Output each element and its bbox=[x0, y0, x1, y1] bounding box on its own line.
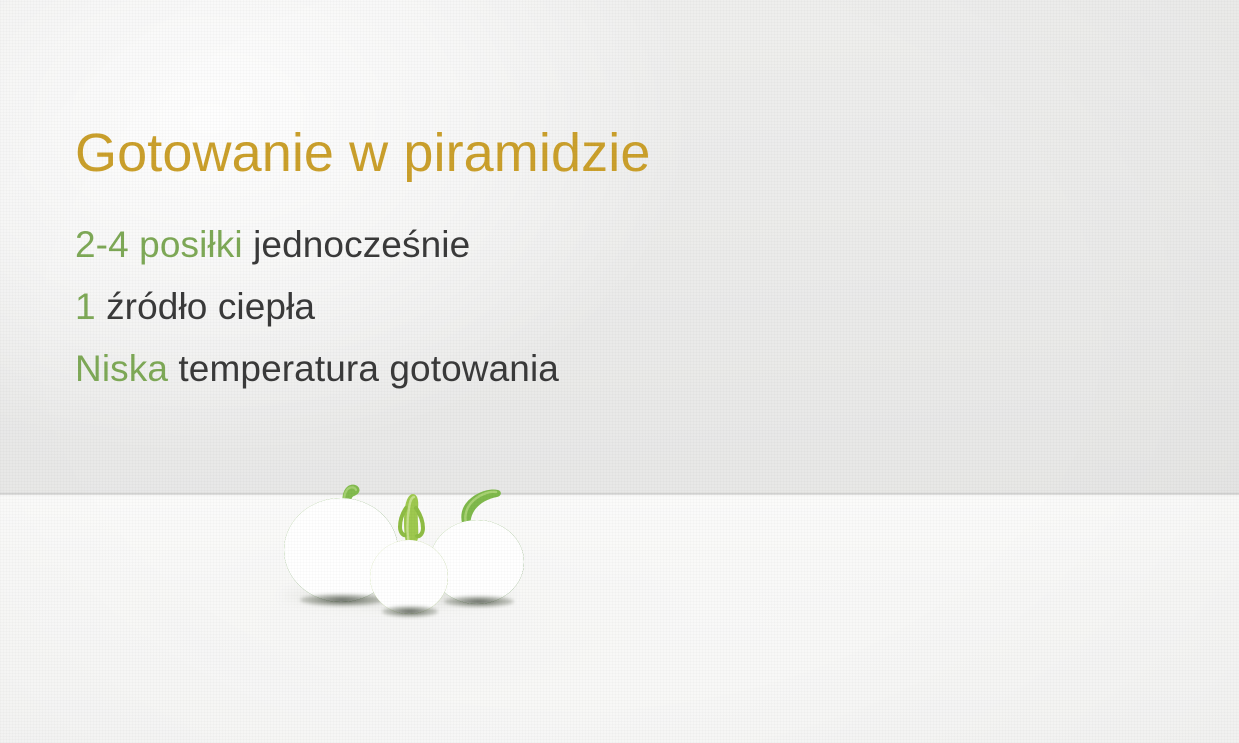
round-zucchini-photo bbox=[276, 462, 526, 627]
text-block: Gotowanie w piramidzie 2-4 posiłki jedno… bbox=[75, 118, 895, 400]
slide-canvas: Gotowanie w piramidzie 2-4 posiłki jedno… bbox=[0, 0, 1239, 743]
bullet-rest-text: jednocześnie bbox=[243, 224, 471, 265]
list-item: 1 źródło ciepła bbox=[75, 276, 895, 338]
bullet-accent-text: 1 bbox=[75, 286, 96, 327]
background-table-surface bbox=[0, 495, 1239, 743]
highlight bbox=[294, 506, 366, 568]
list-item: Niska temperatura gotowania bbox=[75, 338, 895, 400]
background-seam-line bbox=[0, 492, 1239, 496]
contact-shadow bbox=[382, 606, 438, 617]
bullet-rest-text: temperatura gotowania bbox=[168, 348, 559, 389]
page-title: Gotowanie w piramidzie bbox=[75, 118, 895, 188]
highlight bbox=[378, 546, 426, 588]
list-item: 2-4 posiłki jednocześnie bbox=[75, 214, 895, 276]
squash-middle bbox=[358, 490, 456, 614]
bullet-rest-text: źródło ciepła bbox=[96, 286, 315, 327]
bullet-accent-text: Niska bbox=[75, 348, 168, 389]
bullet-accent-text: 2-4 posiłki bbox=[75, 224, 243, 265]
bullet-list: 2-4 posiłki jednocześnie 1 źródło ciepła… bbox=[75, 214, 895, 400]
